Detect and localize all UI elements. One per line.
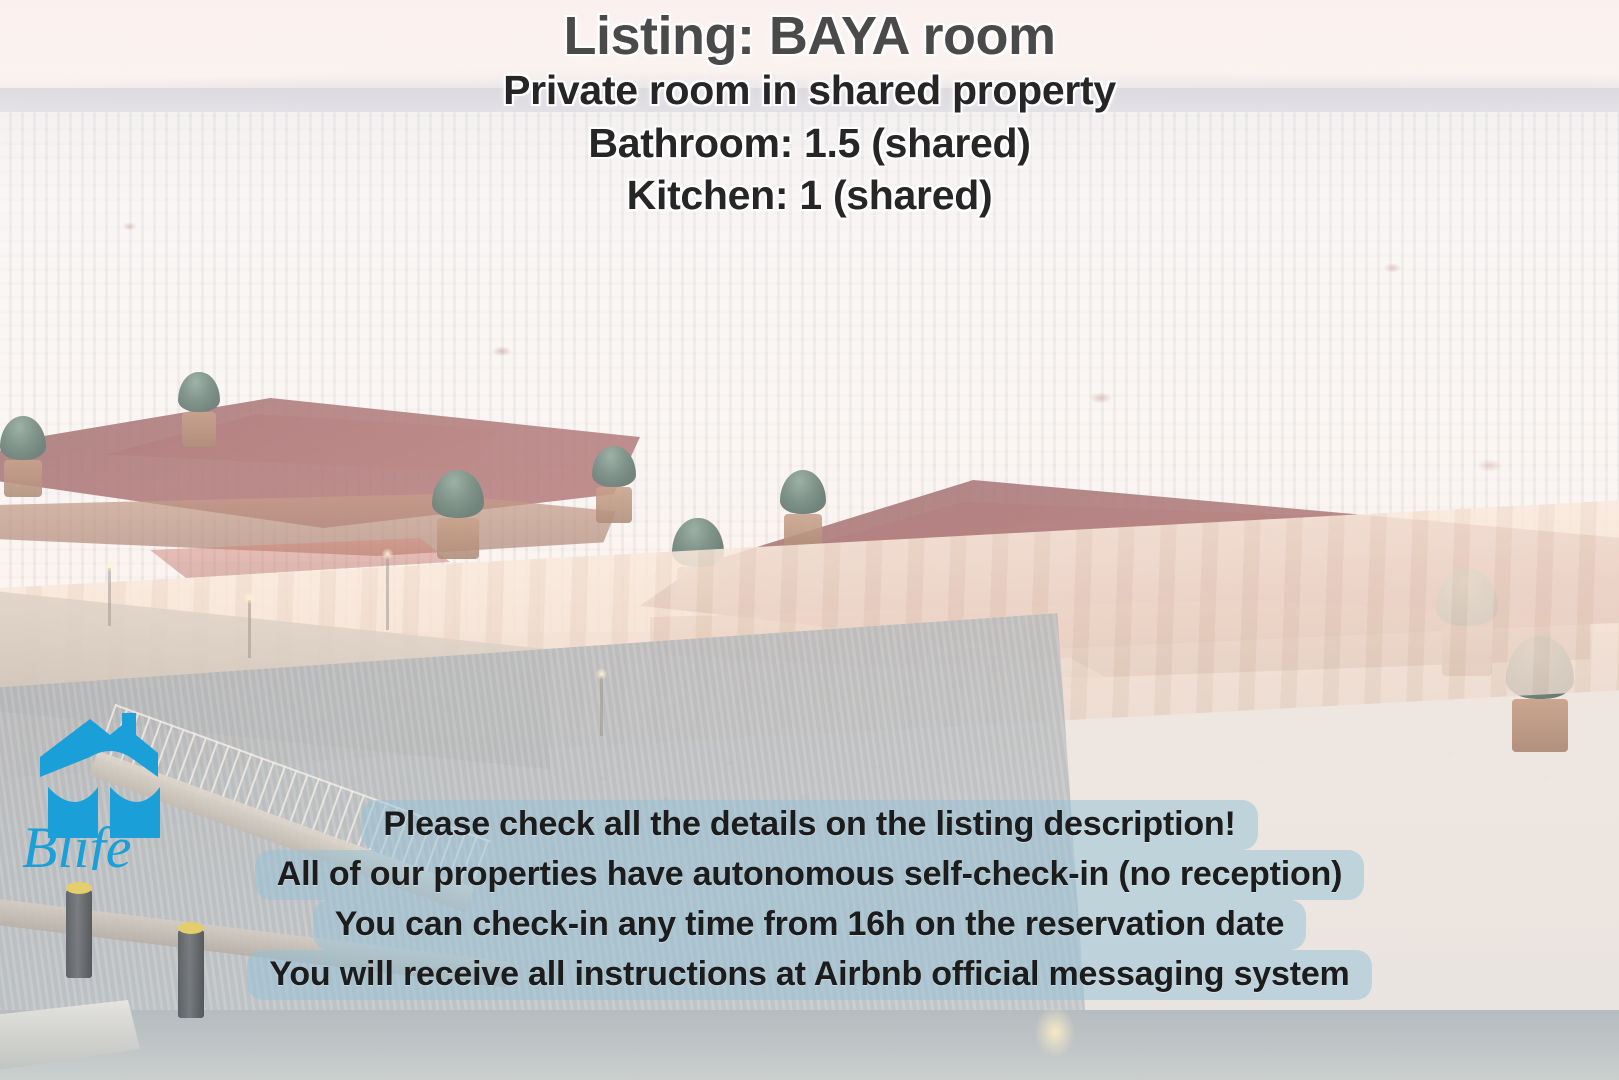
blife-wordmark: Blife (22, 815, 132, 870)
background-photo (0, 0, 1619, 1080)
turret-body (596, 487, 632, 523)
poster-canvas: Blife Listing: BAYA room Private room in… (0, 0, 1619, 1080)
turret-dome-4 (592, 446, 636, 520)
dome (178, 372, 220, 412)
dome (0, 416, 46, 460)
mooring-post-1 (66, 890, 92, 978)
turret-dome-3 (432, 470, 484, 556)
mooring-post-cap (178, 922, 204, 934)
mooring-post-cap (66, 882, 92, 894)
sun-reflection (1020, 1008, 1090, 1068)
blife-logo: Blife (18, 705, 193, 870)
lamp-post-1 (108, 568, 111, 626)
water-foreground (0, 1010, 1619, 1080)
mooring-post-2 (178, 930, 204, 1018)
lamp-glow (241, 591, 258, 605)
dome (432, 470, 484, 518)
turret-dome-1 (0, 416, 46, 494)
turret-dome-6 (780, 470, 826, 548)
lamp-post-4 (600, 676, 603, 736)
turret-body (182, 412, 216, 447)
lamp-glow (379, 547, 396, 561)
turret-body (437, 518, 480, 559)
turret-dome-2 (178, 372, 220, 444)
dome (780, 470, 826, 514)
lamp-glow (593, 667, 610, 681)
turret-body (4, 460, 42, 497)
lamp-post-2 (248, 600, 251, 658)
lamp-glow (101, 559, 118, 573)
dome (592, 446, 636, 487)
blife-logo-svg: Blife (18, 705, 193, 870)
lamp-post-3 (386, 556, 389, 630)
